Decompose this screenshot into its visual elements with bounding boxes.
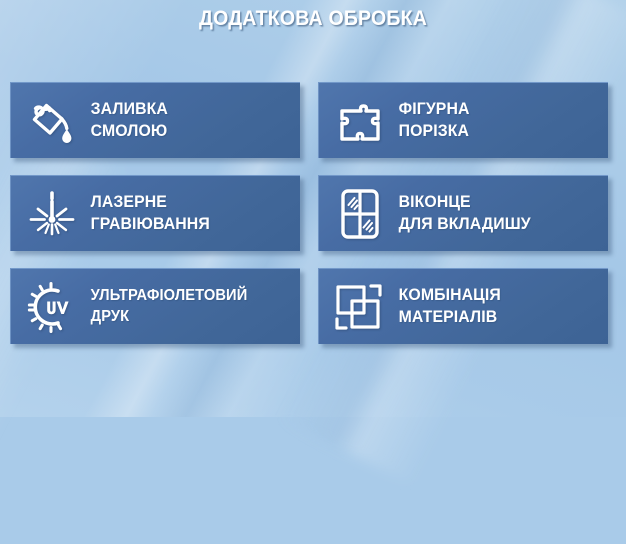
service-card-grid: ЗАЛИВКА СМОЛОЮ ФІГУРНА ПОРІЗКА: [10, 82, 610, 344]
card-laser-engraving[interactable]: ЛАЗЕРНЕ ГРАВІЮВАННЯ: [10, 175, 300, 251]
window-icon: [330, 183, 390, 245]
card-label: УЛЬТРАФІОЛЕТОВИЙ ДРУК: [82, 286, 247, 327]
card-label-line1: УЛЬТРАФІОЛЕТОВИЙ: [91, 287, 248, 304]
uv-sun-icon: [22, 276, 82, 338]
card-label-line2: СМОЛОЮ: [91, 121, 168, 143]
card-uv-print[interactable]: УЛЬТРАФІОЛЕТОВИЙ ДРУК: [10, 268, 300, 344]
card-label-line1: ЛАЗЕРНЕ: [91, 193, 167, 211]
card-label-line1: ФІГУРНА: [399, 100, 470, 118]
card-figured-cut[interactable]: ФІГУРНА ПОРІЗКА: [318, 82, 608, 158]
card-label-line1: ВІКОНЦЕ: [399, 193, 471, 211]
card-label-line2: ДРУК: [91, 307, 248, 327]
card-label: КОМБІНАЦІЯ МАТЕРІАЛІВ: [390, 285, 501, 329]
paint-pour-icon: [22, 90, 82, 152]
card-label: ЛАЗЕРНЕ ГРАВІЮВАННЯ: [82, 192, 210, 236]
card-label-line1: КОМБІНАЦІЯ: [399, 286, 501, 304]
card-label: ФІГУРНА ПОРІЗКА: [390, 99, 470, 143]
card-material-combination[interactable]: КОМБІНАЦІЯ МАТЕРІАЛІВ: [318, 268, 608, 344]
card-label: ЗАЛИВКА СМОЛОЮ: [82, 99, 168, 143]
puzzle-piece-icon: [330, 90, 390, 152]
card-insert-window[interactable]: ВІКОНЦЕ ДЛЯ ВКЛАДИШУ: [318, 175, 608, 251]
card-label-line2: ПОРІЗКА: [399, 121, 470, 143]
page-title: ДОДАТКОВА ОБРОБКА: [22, 7, 604, 31]
card-label-line2: МАТЕРІАЛІВ: [399, 307, 501, 329]
card-resin-pour[interactable]: ЗАЛИВКА СМОЛОЮ: [10, 82, 300, 158]
card-label-line1: ЗАЛИВКА: [91, 100, 168, 118]
laser-beam-icon: [22, 183, 82, 245]
card-label-line2: ДЛЯ ВКЛАДИШУ: [399, 214, 531, 236]
card-label: ВІКОНЦЕ ДЛЯ ВКЛАДИШУ: [390, 192, 531, 236]
card-label-line2: ГРАВІЮВАННЯ: [91, 214, 210, 236]
overlapping-squares-icon: [330, 276, 390, 338]
